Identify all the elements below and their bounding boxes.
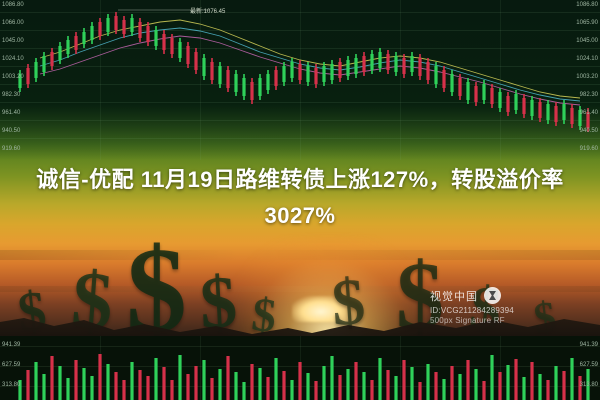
watermark-brand-label: 视觉中国 <box>430 288 478 304</box>
top-axis-right-label: 1065.90 <box>576 20 598 26</box>
top-axis-left-label: 940.50 <box>2 128 20 134</box>
top-axis-right-label: 1003.20 <box>576 74 598 80</box>
top-axis-left-label: 919.60 <box>2 146 20 152</box>
top-stock-chart: 最新:1076.45 1086.80 1066.00 1045.00 1024.… <box>0 0 600 160</box>
bottom-axis-left-label: 313.80 <box>2 382 20 388</box>
top-axis-left-label: 961.40 <box>2 110 20 116</box>
bottom-axis-left-label: 627.59 <box>2 362 20 368</box>
top-axis-right-label: 961.40 <box>580 110 598 116</box>
top-axis-right-label: 940.50 <box>580 128 598 134</box>
top-axis-left-label: 1045.00 <box>2 38 24 44</box>
volume-bars <box>0 336 600 400</box>
top-axis-left-label: 1003.20 <box>2 74 24 80</box>
top-axis-right-label: 1024.10 <box>576 56 598 62</box>
top-axis-right-label: 982.30 <box>580 92 598 98</box>
watermark: 视觉中国 ID:VCG211284289394 500px Signature … <box>430 288 580 324</box>
top-chart-plot <box>0 0 600 160</box>
watermark-id-label: ID:VCG211284289394 <box>430 306 514 315</box>
latest-price-annotation: 最新:1076.45 <box>190 6 225 15</box>
bottom-axis-left-label: 941.39 <box>2 342 20 348</box>
watermark-signature-label: 500px Signature RF <box>430 316 505 325</box>
bottom-volume-chart: 941.39 627.59 313.80 941.39 627.59 313.8… <box>0 336 600 400</box>
top-axis-left-label: 1086.80 <box>2 2 24 8</box>
top-axis-left-label: 1066.00 <box>2 20 24 26</box>
top-axis-right-label: 1086.80 <box>576 2 598 8</box>
headline-text: 诚信-优配 11月19日路维转债上涨127%，转股溢价率3027% <box>0 162 600 234</box>
top-axis-right-label: 1045.00 <box>576 38 598 44</box>
news-cover-image: $ $ $ $ $ $ $ $ $ <box>0 0 600 400</box>
top-axis-left-label: 1024.10 <box>2 56 24 62</box>
top-axis-left-label: 982.30 <box>2 92 20 98</box>
bottom-axis-right-label: 313.80 <box>580 382 598 388</box>
bottom-axis-right-label: 627.59 <box>580 362 598 368</box>
top-axis-right-label: 919.60 <box>580 146 598 152</box>
bottom-axis-right-label: 941.39 <box>580 342 598 348</box>
watermark-logo-icon <box>484 287 501 304</box>
